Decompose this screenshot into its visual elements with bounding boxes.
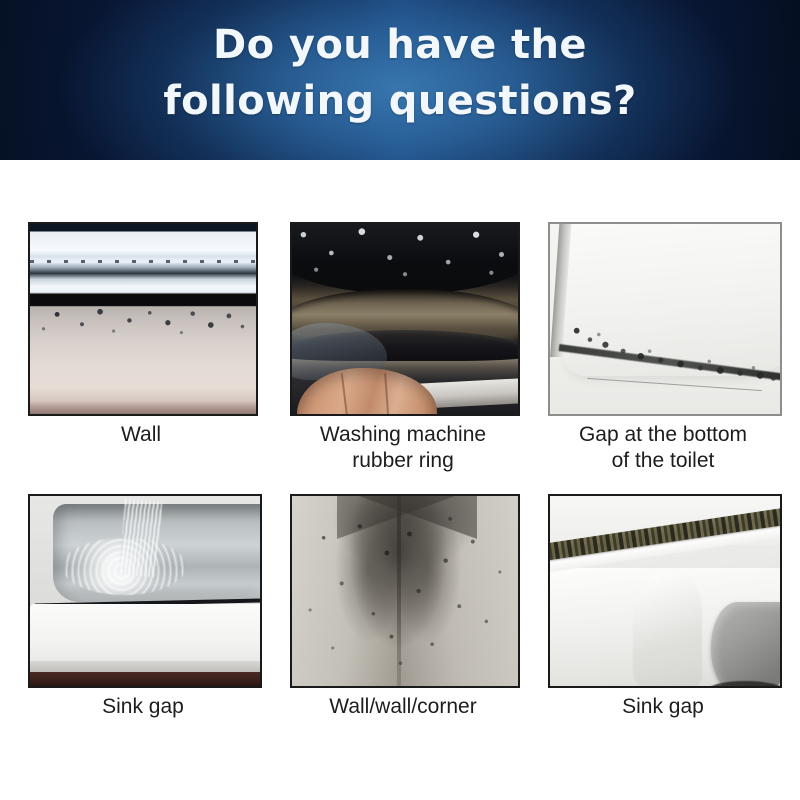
tile-wall-caption: Wall	[6, 422, 276, 448]
tile-wall-corner-caption: Wall/wall/corner	[268, 694, 538, 720]
tile-sink-gap-bathroom: Sink gap	[548, 494, 778, 684]
tile-sink-gap-bathroom-caption: Sink gap	[526, 694, 800, 720]
toilet-base-mould-photo	[548, 222, 782, 416]
tile-wall: Wall	[28, 222, 254, 412]
problem-tiles-grid: Wall Washing machine rubber ring	[0, 160, 800, 800]
basin-fold-shape	[633, 572, 702, 686]
tile-washing-machine-rubber-ring: Washing machine rubber ring	[290, 222, 516, 412]
wall-mould-photo	[28, 222, 258, 416]
wood-trim-shape	[30, 672, 260, 686]
water-stream-shape	[119, 498, 162, 577]
tile-sink-gap-kitchen: Sink gap	[28, 494, 258, 684]
tile-washing-machine-caption: Washing machine rubber ring	[268, 422, 538, 474]
wall-corner-mould-photo	[290, 494, 520, 688]
washing-machine-seal-photo	[290, 222, 520, 416]
bathroom-sink-gap-photo	[548, 494, 782, 688]
washer-drum-shape	[290, 222, 520, 294]
kitchen-sink-gap-photo	[28, 494, 262, 688]
drain-fitting-shape	[711, 602, 782, 688]
tile-wall-wall-corner: Wall/wall/corner	[290, 494, 516, 684]
page-title: Do you have the following questions?	[0, 20, 800, 126]
tile-sink-gap-kitchen-caption: Sink gap	[6, 694, 280, 720]
corner-mould-speckle-shape	[292, 496, 518, 686]
tile-toilet-bottom-gap: Gap at the bottom of the toilet	[548, 222, 778, 412]
page-title-line-2: following questions?	[0, 76, 800, 126]
marble-panel-shape	[30, 604, 260, 665]
header-banner: Do you have the following questions?	[0, 0, 800, 160]
promotional-banner-page: Do you have the following questions? Wal…	[0, 0, 800, 800]
tile-toilet-caption: Gap at the bottom of the toilet	[526, 422, 800, 474]
page-title-line-1: Do you have the	[0, 20, 800, 70]
